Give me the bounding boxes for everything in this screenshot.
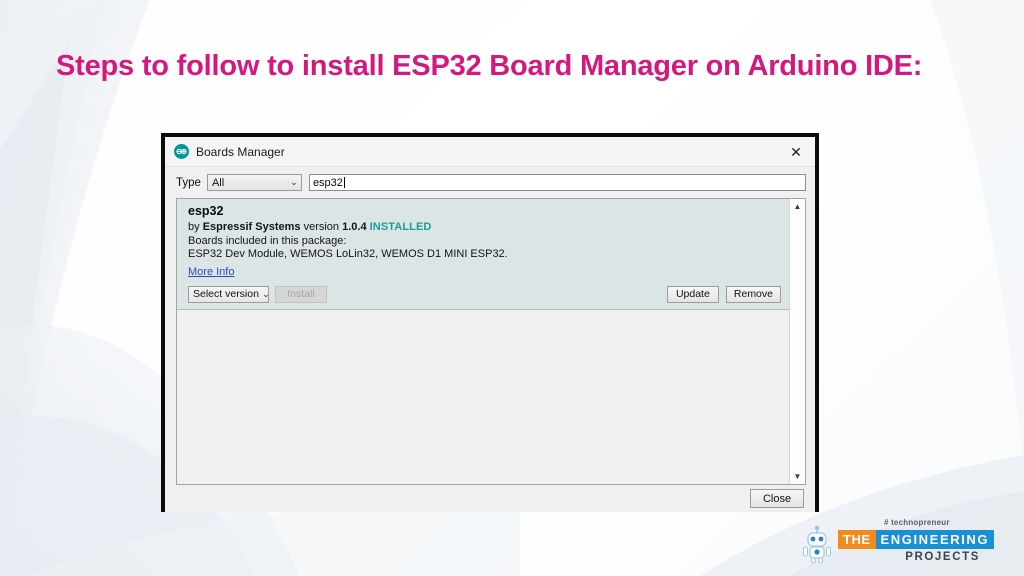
scrollbar-track[interactable] (790, 214, 805, 469)
type-dropdown[interactable]: All ⌄ (207, 174, 302, 191)
brand-the: THE (838, 530, 876, 549)
chevron-down-icon: ⌄ (287, 177, 301, 188)
package-version: 1.0.4 (342, 221, 366, 233)
packages-list-region: esp32 by Espressif Systems version 1.0.4… (176, 198, 806, 485)
type-dropdown-value: All (208, 177, 287, 189)
brand-projects: PROJECTS (905, 551, 980, 563)
scroll-up-icon[interactable]: ▲ (790, 199, 805, 214)
install-button: Install (275, 286, 327, 303)
package-actions: Select version ⌄ Install Update Remove (188, 286, 781, 303)
text-cursor (344, 177, 345, 188)
package-name: esp32 (188, 204, 781, 218)
status-badge: INSTALLED (370, 221, 432, 233)
boards-manager-dialog: Boards Manager ✕ Type All ⌄ esp32 (165, 137, 815, 508)
boards-included-label: Boards included in this package: (188, 235, 781, 249)
remove-button[interactable]: Remove (726, 286, 781, 303)
search-input-value: esp32 (313, 177, 343, 189)
brand-wordmark: THE ENGINEERING (838, 530, 994, 549)
select-version-dropdown[interactable]: Select version ⌄ (188, 286, 269, 303)
slide-canvas: Steps to follow to install ESP32 Board M… (0, 0, 1024, 576)
list-item[interactable]: esp32 by Espressif Systems version 1.0.4… (177, 199, 789, 310)
search-input[interactable]: esp32 (309, 174, 806, 191)
package-author: Espressif Systems (203, 221, 301, 233)
brand-hashtag: # technopreneur (884, 518, 950, 527)
package-author-line: by Espressif Systems version 1.0.4 INSTA… (188, 221, 781, 235)
dialog-title: Boards Manager (196, 145, 783, 159)
arduino-infinity-icon (174, 144, 189, 159)
brand-logo: # technopreneur THE ENGINEERING PROJECTS (800, 518, 980, 570)
boards-manager-dialog-frame: Boards Manager ✕ Type All ⌄ esp32 (161, 133, 819, 512)
update-button[interactable]: Update (667, 286, 719, 303)
close-button[interactable]: Close (750, 489, 804, 508)
dialog-titlebar: Boards Manager ✕ (165, 137, 815, 167)
package-right-actions: Update Remove (667, 286, 781, 303)
vertical-scrollbar[interactable]: ▲ ▼ (789, 199, 805, 484)
boards-included-list: ESP32 Dev Module, WEMOS LoLin32, WEMOS D… (188, 248, 781, 262)
dialog-footer: Close (165, 485, 815, 512)
select-version-value: Select version (189, 288, 259, 300)
page-title: Steps to follow to install ESP32 Board M… (56, 50, 922, 83)
type-label: Type (176, 177, 201, 189)
robot-mascot-icon (800, 524, 834, 564)
filter-row: Type All ⌄ esp32 (165, 167, 815, 197)
brand-engineering: ENGINEERING (876, 530, 995, 549)
by-prefix: by (188, 221, 203, 233)
packages-list: esp32 by Espressif Systems version 1.0.4… (177, 199, 789, 484)
more-info-link[interactable]: More Info (188, 266, 234, 278)
close-icon[interactable]: ✕ (783, 140, 809, 164)
chevron-down-icon: ⌄ (259, 289, 273, 300)
scroll-down-icon[interactable]: ▼ (790, 469, 805, 484)
version-prefix: version (301, 221, 343, 233)
